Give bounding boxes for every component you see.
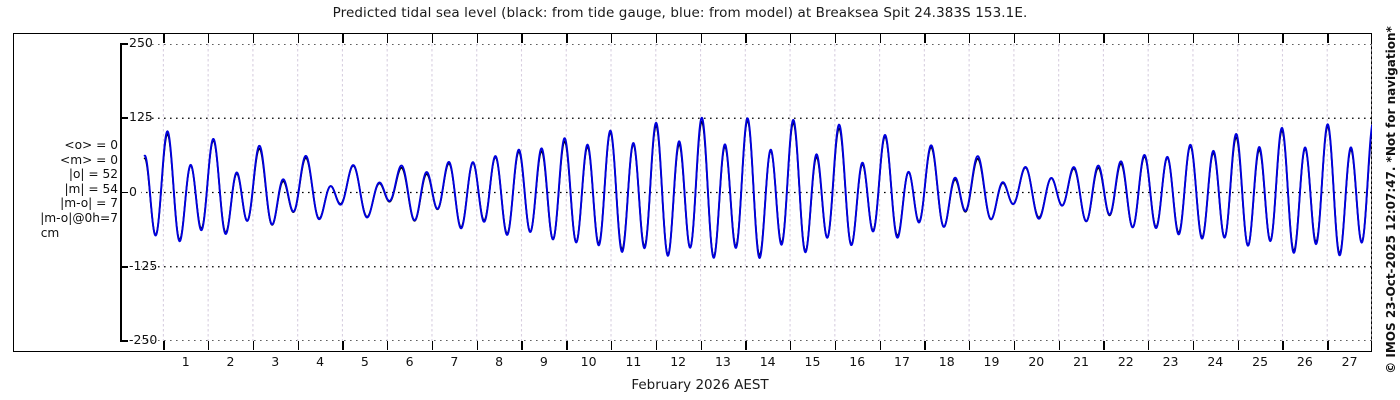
plot-area <box>141 44 1372 341</box>
copyright-text: © IMOS 23-Oct-2025 12:07:47. *Not for na… <box>1384 26 1398 374</box>
x-axis-tick-label: 12 <box>658 356 698 369</box>
x-axis-tick-label: 27 <box>1330 356 1370 369</box>
x-axis-tick-top <box>656 34 657 43</box>
x-axis-tick <box>790 341 791 350</box>
x-axis-tick-label: 3 <box>255 356 295 369</box>
x-axis-tick-top <box>253 34 254 43</box>
x-axis-tick <box>1148 341 1149 350</box>
x-axis-tick-label: 16 <box>837 356 877 369</box>
x-axis-tick-top <box>1014 34 1015 43</box>
x-axis-tick-top <box>566 34 567 43</box>
x-axis-tick-top <box>924 34 925 43</box>
x-axis-tick-label: 6 <box>390 356 430 369</box>
x-axis-tick <box>387 341 388 350</box>
x-axis-tick-label: 18 <box>927 356 967 369</box>
x-axis-tick-label: 9 <box>524 356 564 369</box>
stat-mean-obs: <o> = 0 <box>0 138 118 153</box>
x-axis-tick-label: 10 <box>569 356 609 369</box>
x-axis-tick <box>163 341 164 350</box>
x-axis-tick-top <box>387 34 388 43</box>
x-axis-tick-top <box>432 34 433 43</box>
x-axis-tick <box>298 341 299 350</box>
statistics-block: <o> = 0 <m> = 0 |o| = 52 |m| = 54 |m-o| … <box>0 138 118 240</box>
x-axis-tick-top <box>1148 34 1149 43</box>
y-axis-tick-label: 0 <box>129 186 137 199</box>
x-axis-tick-label: 19 <box>972 356 1012 369</box>
x-axis-tick-top <box>880 34 881 43</box>
x-axis-tick <box>432 341 433 350</box>
stat-mean-model: <m> = 0 <box>0 153 118 168</box>
x-axis-tick-top <box>521 34 522 43</box>
x-axis-title: February 2026 AEST <box>0 377 1400 393</box>
x-axis-tick-top <box>701 34 702 43</box>
x-axis-tick-top <box>163 34 164 43</box>
chart-title: Predicted tidal sea level (black: from t… <box>0 5 1360 21</box>
stat-abs-diff-0h: |m-o|@0h=7 <box>0 211 118 226</box>
y-axis-tick-label: -250 <box>129 334 157 347</box>
x-axis-tick <box>521 341 522 350</box>
x-axis-tick <box>969 341 970 350</box>
x-axis-tick <box>656 341 657 350</box>
x-axis-tick-label: 17 <box>882 356 922 369</box>
y-axis-tick <box>120 340 128 342</box>
x-axis-tick-label: 1 <box>166 356 206 369</box>
x-axis-tick <box>1193 341 1194 350</box>
x-axis-tick <box>566 341 567 350</box>
x-axis-tick-top <box>1193 34 1194 43</box>
x-axis-tick-top <box>835 34 836 43</box>
x-axis-tick <box>342 341 343 350</box>
x-axis-tick-label: 25 <box>1240 356 1280 369</box>
x-axis-tick-top <box>611 34 612 43</box>
x-axis-tick-top <box>477 34 478 43</box>
copyright-credit: © IMOS 23-Oct-2025 12:07:47. *Not for na… <box>1381 0 1400 400</box>
x-axis-tick-label: 23 <box>1151 356 1191 369</box>
x-axis-tick-top <box>1238 34 1239 43</box>
stat-abs-diff: |m-o| = 7 <box>0 196 118 211</box>
x-axis-tick <box>208 341 209 350</box>
stat-units: cm <box>0 226 118 241</box>
x-axis-tick-label: 22 <box>1106 356 1146 369</box>
x-axis-tick <box>477 341 478 350</box>
x-axis-tick-top <box>969 34 970 43</box>
stat-abs-model: |m| = 54 <box>0 182 118 197</box>
x-axis-tick-top <box>745 34 746 43</box>
x-axis-tick-top <box>1327 34 1328 43</box>
x-axis-tick-top <box>1282 34 1283 43</box>
y-axis-tick <box>120 117 128 119</box>
y-axis-tick-label: 125 <box>129 111 153 124</box>
stat-abs-obs: |o| = 52 <box>0 167 118 182</box>
x-axis-tick-top <box>1103 34 1104 43</box>
x-axis-tick-label: 5 <box>345 356 385 369</box>
x-axis-tick <box>1238 341 1239 350</box>
x-axis-tick-label: 24 <box>1195 356 1235 369</box>
x-axis-tick <box>1327 341 1328 350</box>
x-axis-tick <box>701 341 702 350</box>
x-axis-tick-label: 26 <box>1285 356 1325 369</box>
x-axis-tick <box>1282 341 1283 350</box>
y-axis-tick-label: 250 <box>129 37 153 50</box>
y-axis-tick <box>120 192 128 194</box>
x-axis-tick-label: 8 <box>479 356 519 369</box>
x-axis-tick <box>880 341 881 350</box>
x-axis-tick <box>924 341 925 350</box>
x-axis-tick-label: 13 <box>703 356 743 369</box>
x-axis-tick-label: 21 <box>1061 356 1101 369</box>
y-axis-tick <box>120 266 128 268</box>
x-axis-tick-top <box>342 34 343 43</box>
x-axis-tick-label: 11 <box>613 356 653 369</box>
x-axis-tick-label: 15 <box>792 356 832 369</box>
x-axis-tick-top <box>298 34 299 43</box>
x-axis-tick <box>1014 341 1015 350</box>
x-axis-tick-label: 20 <box>1016 356 1056 369</box>
x-axis-tick <box>745 341 746 350</box>
x-axis-tick-top <box>790 34 791 43</box>
y-axis-tick <box>120 43 128 45</box>
x-axis-tick-top <box>208 34 209 43</box>
x-axis-tick <box>1103 341 1104 350</box>
model-series <box>145 118 1372 258</box>
x-axis-tick-label: 7 <box>434 356 474 369</box>
tide-series-svg <box>141 44 1372 341</box>
y-axis-tick-label: -125 <box>129 260 157 273</box>
x-axis-tick <box>1059 341 1060 350</box>
x-axis-tick-top <box>1059 34 1060 43</box>
x-axis-tick-label: 2 <box>211 356 251 369</box>
x-axis-tick <box>611 341 612 350</box>
x-axis-tick-label: 14 <box>748 356 788 369</box>
x-axis-tick <box>253 341 254 350</box>
x-axis-tick-label: 4 <box>300 356 340 369</box>
x-axis-tick <box>835 341 836 350</box>
